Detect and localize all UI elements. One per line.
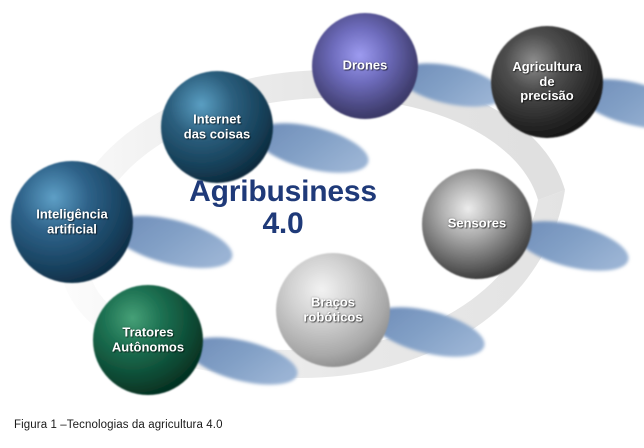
- figure-container: Inteligência artificial Internet das coi…: [0, 0, 644, 448]
- figure-caption: Figura 1 –Tecnologias da agricultura 4.0: [14, 419, 223, 431]
- node-label-internet-das-coisas: Internet das coisas: [161, 112, 273, 141]
- node-sensores[interactable]: Sensores: [422, 169, 532, 279]
- node-bracos-roboticos[interactable]: Braços robóticos: [276, 253, 390, 367]
- node-label-agricultura-de-precisao: Agricultura de precisão: [491, 60, 603, 104]
- node-label-tratores-autonomos: Tratores Autônomos: [93, 325, 203, 354]
- node-label-drones: Drones: [312, 59, 418, 74]
- diagram-canvas: Inteligência artificial Internet das coi…: [0, 0, 644, 410]
- node-label-bracos-roboticos: Braços robóticos: [276, 295, 390, 324]
- node-drones[interactable]: Drones: [312, 13, 418, 119]
- node-label-sensores: Sensores: [422, 217, 532, 232]
- node-agricultura-de-precisao[interactable]: Agricultura de precisão: [491, 26, 603, 138]
- node-internet-das-coisas[interactable]: Internet das coisas: [161, 71, 273, 183]
- node-tratores-autonomos[interactable]: Tratores Autônomos: [93, 285, 203, 395]
- node-inteligencia-artificial[interactable]: Inteligência artificial: [11, 161, 133, 283]
- node-label-inteligencia-artificial: Inteligência artificial: [11, 207, 133, 236]
